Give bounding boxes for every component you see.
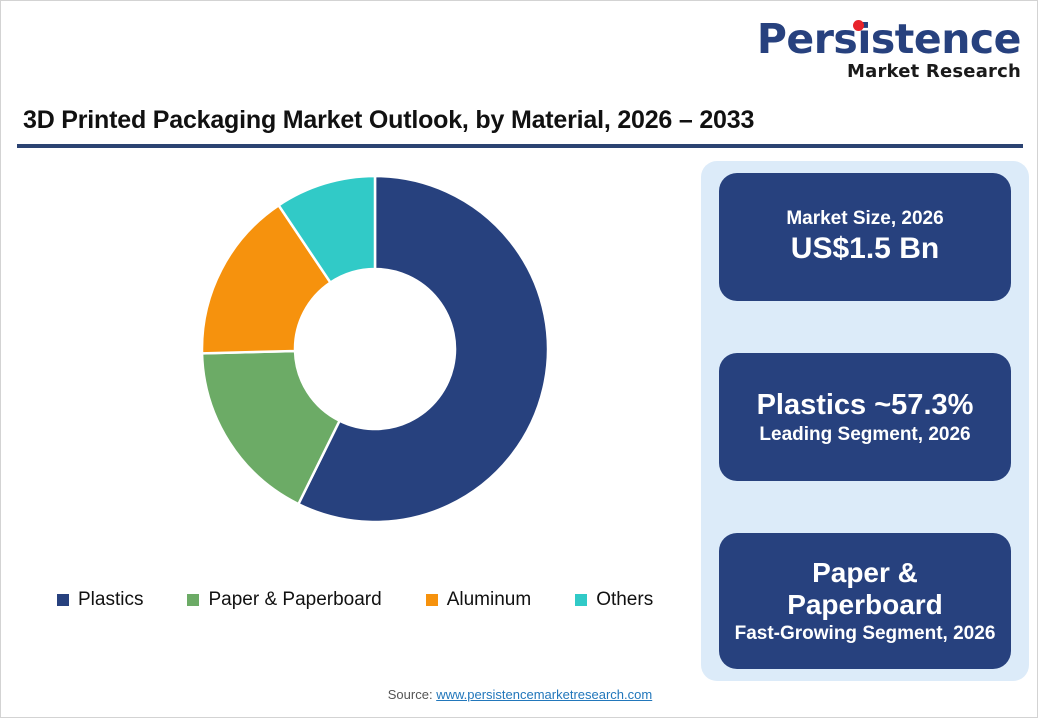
source-prefix: Source: xyxy=(388,687,436,702)
title-divider xyxy=(17,144,1023,148)
brand-name: Persistence xyxy=(757,19,1021,60)
legend-label: Plastics xyxy=(78,589,143,611)
card-leading-segment-value: Plastics ~57.3% xyxy=(757,388,974,423)
legend-label: Paper & Paperboard xyxy=(208,589,381,611)
legend-label: Others xyxy=(596,589,653,611)
brand-logo: Persistence Market Research xyxy=(757,19,1021,81)
card-leading-segment[interactable]: Plastics ~57.3% Leading Segment, 2026 xyxy=(719,353,1011,481)
source-line: Source: www.persistencemarketresearch.co… xyxy=(1,687,1039,702)
card-leading-segment-label: Leading Segment, 2026 xyxy=(759,423,970,447)
brand-tagline: Market Research xyxy=(757,63,1021,81)
infographic-page: Persistence Market Research 3D Printed P… xyxy=(0,0,1038,718)
legend-label: Aluminum xyxy=(447,589,531,611)
card-market-size[interactable]: Market Size, 2026 US$1.5 Bn xyxy=(719,173,1011,301)
legend-swatch-icon xyxy=(426,594,438,606)
card-fast-growing-value-line1: Paper & xyxy=(812,557,918,589)
legend-item-paper-paperboard[interactable]: Paper & Paperboard xyxy=(187,589,381,611)
card-market-size-value: US$1.5 Bn xyxy=(791,231,939,267)
card-fast-growing-segment[interactable]: Paper & Paperboard Fast-Growing Segment,… xyxy=(719,533,1011,669)
brand-name-text: Persistence xyxy=(757,15,1021,63)
card-fast-growing-label: Fast-Growing Segment, 2026 xyxy=(735,622,996,646)
card-market-size-label: Market Size, 2026 xyxy=(786,207,943,231)
card-fast-growing-value-line2: Paperboard xyxy=(787,589,943,621)
donut-chart xyxy=(15,161,695,561)
page-title: 3D Printed Packaging Market Outlook, by … xyxy=(23,106,754,135)
legend-swatch-icon xyxy=(575,594,587,606)
legend-swatch-icon xyxy=(57,594,69,606)
highlights-panel: Market Size, 2026 US$1.5 Bn Plastics ~57… xyxy=(701,161,1029,681)
legend-item-others[interactable]: Others xyxy=(575,589,653,611)
legend-item-aluminum[interactable]: Aluminum xyxy=(426,589,531,611)
chart-legend: Plastics Paper & Paperboard Aluminum Oth… xyxy=(57,589,653,611)
logo-dot-icon xyxy=(853,20,864,31)
legend-swatch-icon xyxy=(187,594,199,606)
donut-slices xyxy=(202,176,548,522)
legend-item-plastics[interactable]: Plastics xyxy=(57,589,143,611)
source-url-link[interactable]: www.persistencemarketresearch.com xyxy=(436,687,652,702)
donut-chart-svg xyxy=(15,161,695,561)
